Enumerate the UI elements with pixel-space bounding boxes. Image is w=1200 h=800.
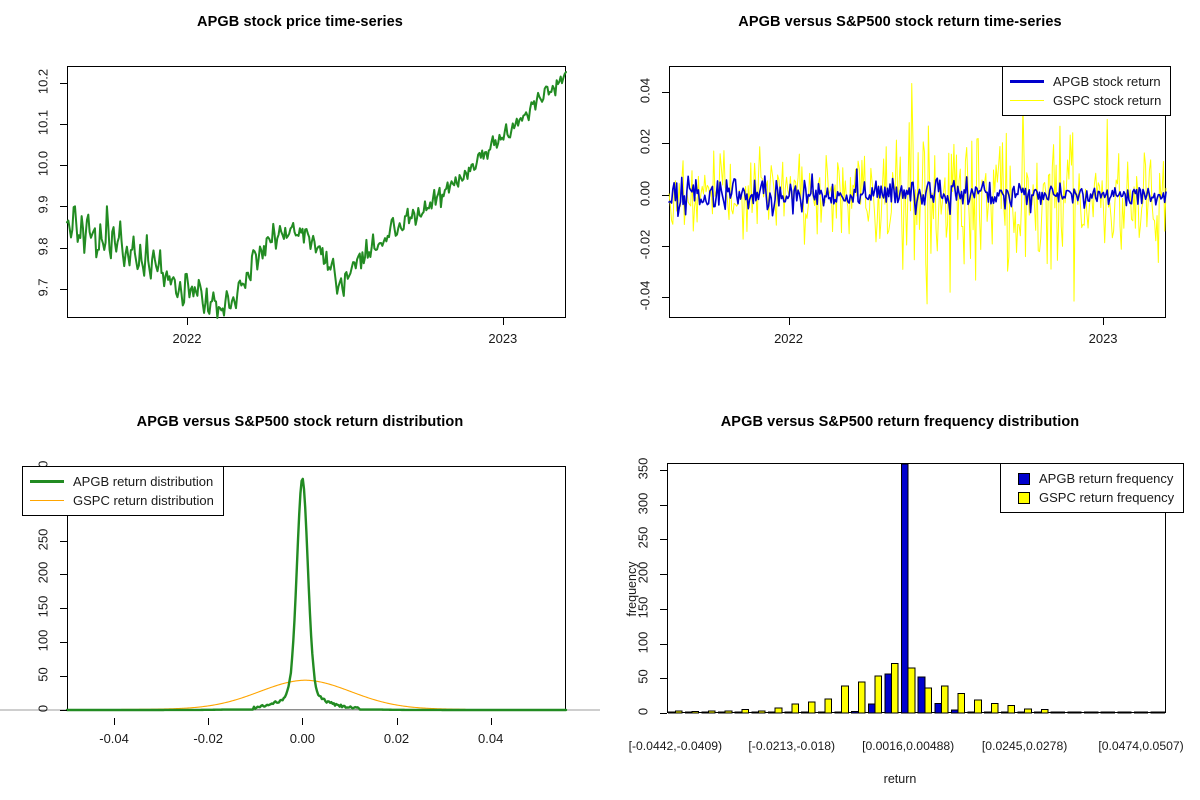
box-swatch-icon (1018, 473, 1030, 485)
panel-return-distribution: APGB versus S&P500 stock return distribu… (0, 400, 600, 800)
axis-tick-mark (660, 470, 667, 471)
y-tick-label: 0 (636, 692, 651, 732)
figure-root: APGB stock price time-series 9.79.89.910… (0, 0, 1200, 800)
axis-tick-mark (60, 124, 67, 125)
y-tick-label: 0 (36, 689, 51, 729)
panel4-xlabel: return (600, 772, 1200, 786)
panel4-legend[interactable]: APGB return frequency GSPC return freque… (1000, 463, 1184, 513)
y-tick-label: 0.00 (638, 173, 653, 213)
legend-label: GSPC stock return (1053, 93, 1161, 108)
x-tick-label: [0.0474,0.0507) (1061, 739, 1200, 753)
axis-tick-mark (60, 710, 67, 711)
y-tick-label: 9.8 (36, 226, 51, 266)
y-tick-label: 9.7 (36, 268, 51, 308)
axis-tick-mark (60, 642, 67, 643)
y-tick-label: 50 (36, 655, 51, 695)
axis-tick-mark (114, 718, 115, 725)
y-tick-label: 150 (36, 587, 51, 627)
axis-tick-mark (662, 143, 669, 144)
axis-tick-mark (491, 718, 492, 725)
axis-tick-mark (397, 718, 398, 725)
axis-tick-mark (660, 505, 667, 506)
panel2-legend[interactable]: APGB stock return GSPC stock return (1002, 66, 1171, 116)
axis-tick-mark (660, 678, 667, 679)
y-tick-label: 50 (636, 657, 651, 697)
line-swatch-icon (1010, 100, 1044, 101)
panel3-legend[interactable]: APGB return distribution GSPC return dis… (22, 466, 224, 516)
legend-item-gspc-frequency[interactable]: GSPC return frequency (1008, 488, 1174, 507)
x-tick-label: 0.04 (411, 731, 571, 746)
legend-item-gspc-distribution[interactable]: GSPC return distribution (30, 491, 214, 510)
y-tick-label: 100 (36, 621, 51, 661)
axis-tick-mark (660, 713, 667, 714)
axis-tick-mark (789, 318, 790, 325)
axis-tick-mark (662, 297, 669, 298)
axis-tick-mark (60, 676, 67, 677)
legend-item-apgb-frequency[interactable]: APGB return frequency (1008, 469, 1174, 488)
panel-returns-timeseries: APGB versus S&P500 stock return time-ser… (600, 0, 1200, 400)
x-tick-label: 2022 (709, 331, 869, 346)
y-tick-label: 10.2 (36, 61, 51, 101)
line-swatch-icon (30, 480, 64, 483)
axis-tick-mark (60, 541, 67, 542)
y-tick-label: 350 (636, 448, 651, 488)
y-tick-label: 0.04 (638, 70, 653, 110)
x-tick-label: 2022 (107, 331, 267, 346)
axis-tick-mark (660, 609, 667, 610)
axis-tick-mark (662, 246, 669, 247)
line-swatch-icon (1010, 80, 1044, 83)
legend-label: GSPC return frequency (1039, 490, 1174, 505)
panel-return-frequency: APGB versus S&P500 return frequency dist… (600, 400, 1200, 800)
x-tick-label: 2023 (423, 331, 583, 346)
axis-tick-mark (302, 718, 303, 725)
axis-tick-mark (208, 718, 209, 725)
axis-tick-mark (1103, 318, 1104, 325)
axis-tick-mark (660, 539, 667, 540)
legend-label: APGB stock return (1053, 74, 1161, 89)
legend-label: APGB return frequency (1039, 471, 1173, 486)
axis-tick-mark (60, 608, 67, 609)
axis-tick-mark (60, 248, 67, 249)
legend-item-gspc-return[interactable]: GSPC stock return (1010, 91, 1161, 110)
axis-tick-mark (662, 92, 669, 93)
axis-tick-mark (503, 318, 504, 325)
legend-item-apgb-distribution[interactable]: APGB return distribution (30, 472, 214, 491)
legend-item-apgb-return[interactable]: APGB stock return (1010, 72, 1161, 91)
axis-tick-mark (60, 83, 67, 84)
axis-tick-mark (60, 574, 67, 575)
y-tick-label: -0.04 (638, 276, 653, 316)
panel4-ylabel: frequency (625, 549, 639, 629)
axis-tick-mark (660, 644, 667, 645)
legend-label: GSPC return distribution (73, 493, 214, 508)
panel-apgb-price: APGB stock price time-series 9.79.89.910… (0, 0, 600, 400)
y-tick-label: 0.02 (638, 122, 653, 162)
y-tick-label: 10.1 (36, 102, 51, 142)
y-tick-label: 10.0 (36, 144, 51, 184)
axis-tick-mark (60, 165, 67, 166)
axis-tick-mark (187, 318, 188, 325)
axis-tick-mark (660, 574, 667, 575)
box-swatch-icon (1018, 492, 1030, 504)
y-tick-label: 9.9 (36, 185, 51, 225)
axis-tick-mark (60, 206, 67, 207)
axis-tick-mark (60, 289, 67, 290)
y-tick-label: 300 (636, 483, 651, 523)
line-swatch-icon (30, 500, 64, 501)
axis-tick-mark (662, 195, 669, 196)
y-tick-label: -0.02 (638, 225, 653, 265)
legend-label: APGB return distribution (73, 474, 213, 489)
x-tick-label: 2023 (1023, 331, 1183, 346)
